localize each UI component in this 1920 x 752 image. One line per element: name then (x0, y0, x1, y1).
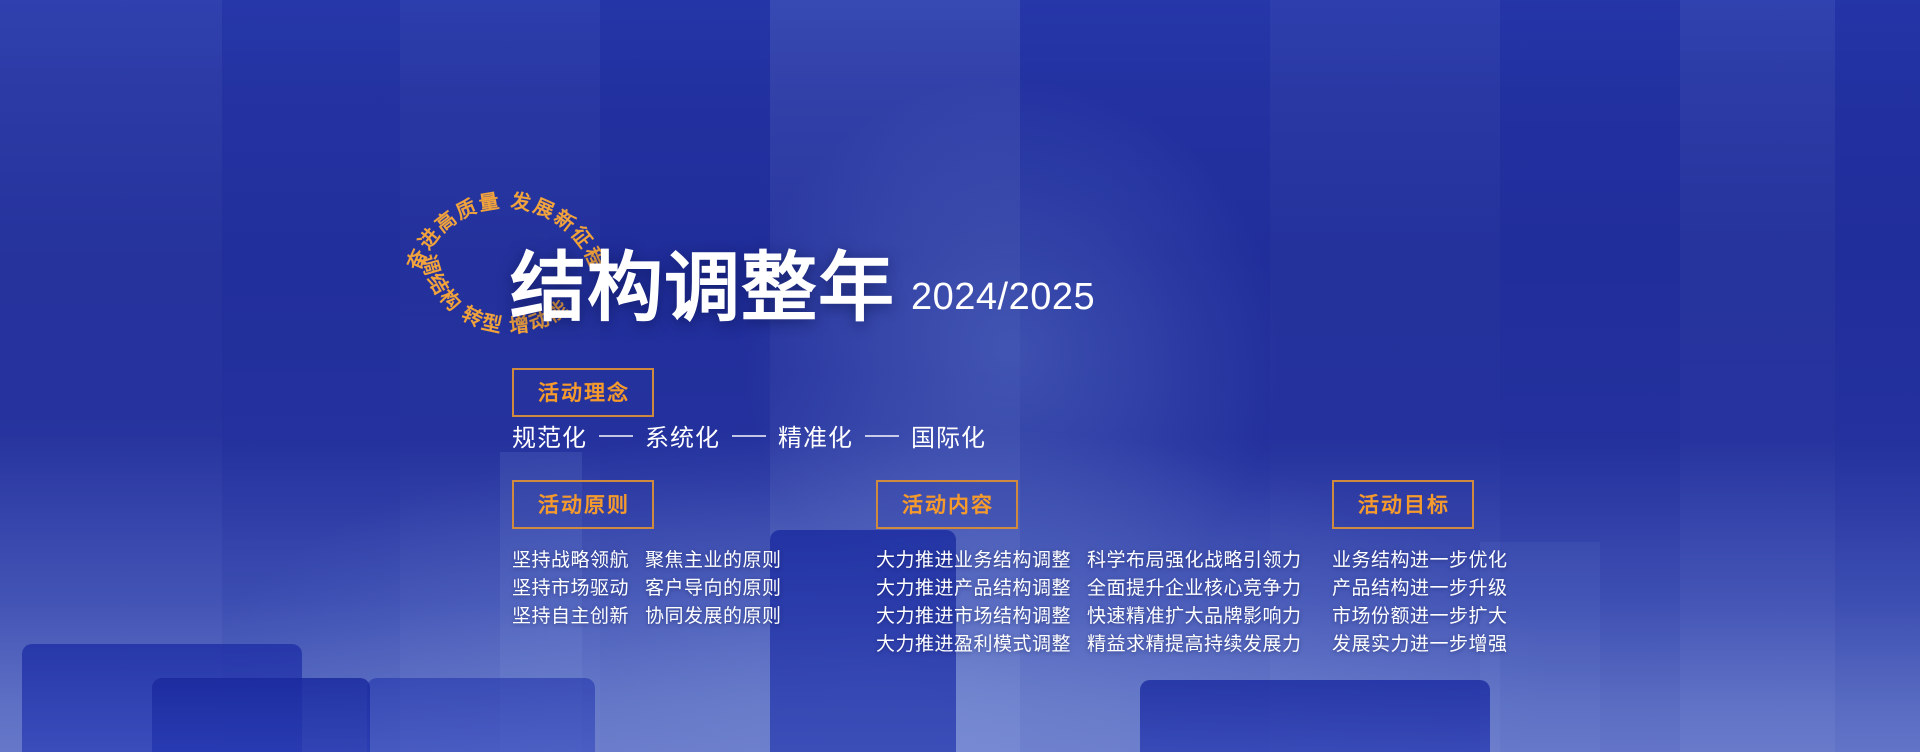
list-item-left: 大力推进产品结构调整 (876, 575, 1071, 603)
section-contents: 活动内容 大力推进业务结构调整科学布局强化战略引领力大力推进产品结构调整全面提升… (876, 480, 1302, 659)
list-item: 坚持自主创新协同发展的原则 (512, 603, 782, 631)
list-item: 大力推进业务结构调整科学布局强化战略引领力 (876, 547, 1302, 575)
list-item: 坚持市场驱动客户导向的原则 (512, 575, 782, 603)
list-item: 产品结构进一步升级 (1332, 575, 1508, 603)
badge-principles[interactable]: 活动原则 (512, 480, 654, 529)
list-item-left: 坚持市场驱动 (512, 575, 629, 603)
list-item-left: 坚持战略领航 (512, 547, 629, 575)
badge-goals[interactable]: 活动目标 (1332, 480, 1474, 529)
concept-separator (599, 435, 633, 437)
principles-list: 坚持战略领航聚焦主业的原则坚持市场驱动客户导向的原则坚持自主创新协同发展的原则 (512, 547, 782, 631)
list-item-left: 产品结构进一步升级 (1332, 575, 1508, 603)
list-item-left: 大力推进市场结构调整 (876, 603, 1071, 631)
list-item-right: 客户导向的原则 (645, 575, 782, 603)
list-item: 市场份额进一步扩大 (1332, 603, 1508, 631)
concept-item: 系统化 (645, 418, 720, 453)
page-title: 结构调整年 (510, 252, 895, 326)
list-item: 大力推进盈利模式调整精益求精提高持续发展力 (876, 631, 1302, 659)
concept-separator (865, 435, 899, 437)
list-item-left: 大力推进盈利模式调整 (876, 631, 1071, 659)
concept-item: 国际化 (911, 418, 986, 453)
concept-chain: 规范化系统化精准化国际化 (512, 418, 986, 453)
list-item-left: 市场份额进一步扩大 (1332, 603, 1508, 631)
goals-list: 业务结构进一步优化产品结构进一步升级市场份额进一步扩大发展实力进一步增强 (1332, 547, 1508, 659)
list-item-right: 聚焦主业的原则 (645, 547, 782, 575)
list-item: 坚持战略领航聚焦主业的原则 (512, 547, 782, 575)
list-item-left: 坚持自主创新 (512, 603, 629, 631)
banner-root: 奋进高质量 发展新征程 调结构 转型 增动能 结构调整年 2024/2025 活… (0, 0, 1920, 752)
concept-separator (732, 435, 766, 437)
list-item-right: 全面提升企业核心竞争力 (1087, 575, 1302, 603)
section-goals: 活动目标 业务结构进一步优化产品结构进一步升级市场份额进一步扩大发展实力进一步增… (1332, 480, 1508, 659)
badge-concept[interactable]: 活动理念 (512, 368, 654, 417)
contents-list: 大力推进业务结构调整科学布局强化战略引领力大力推进产品结构调整全面提升企业核心竞… (876, 547, 1302, 659)
list-item: 大力推进市场结构调整快速精准扩大品牌影响力 (876, 603, 1302, 631)
concept-item: 精准化 (778, 418, 853, 453)
list-item-right: 精益求精提高持续发展力 (1087, 631, 1302, 659)
list-item-left: 发展实力进一步增强 (1332, 631, 1508, 659)
badge-contents[interactable]: 活动内容 (876, 480, 1018, 529)
list-item-left: 业务结构进一步优化 (1332, 547, 1508, 575)
list-item-left: 大力推进业务结构调整 (876, 547, 1071, 575)
title-row: 结构调整年 2024/2025 (510, 252, 1095, 326)
list-item: 发展实力进一步增强 (1332, 631, 1508, 659)
list-item-right: 快速精准扩大品牌影响力 (1087, 603, 1302, 631)
list-item-right: 科学布局强化战略引领力 (1087, 547, 1302, 575)
concept-item: 规范化 (512, 418, 587, 453)
section-principles: 活动原则 坚持战略领航聚焦主业的原则坚持市场驱动客户导向的原则坚持自主创新协同发… (512, 480, 782, 631)
list-item-right: 协同发展的原则 (645, 603, 782, 631)
year-label: 2024/2025 (911, 276, 1095, 319)
list-item: 业务结构进一步优化 (1332, 547, 1508, 575)
list-item: 大力推进产品结构调整全面提升企业核心竞争力 (876, 575, 1302, 603)
